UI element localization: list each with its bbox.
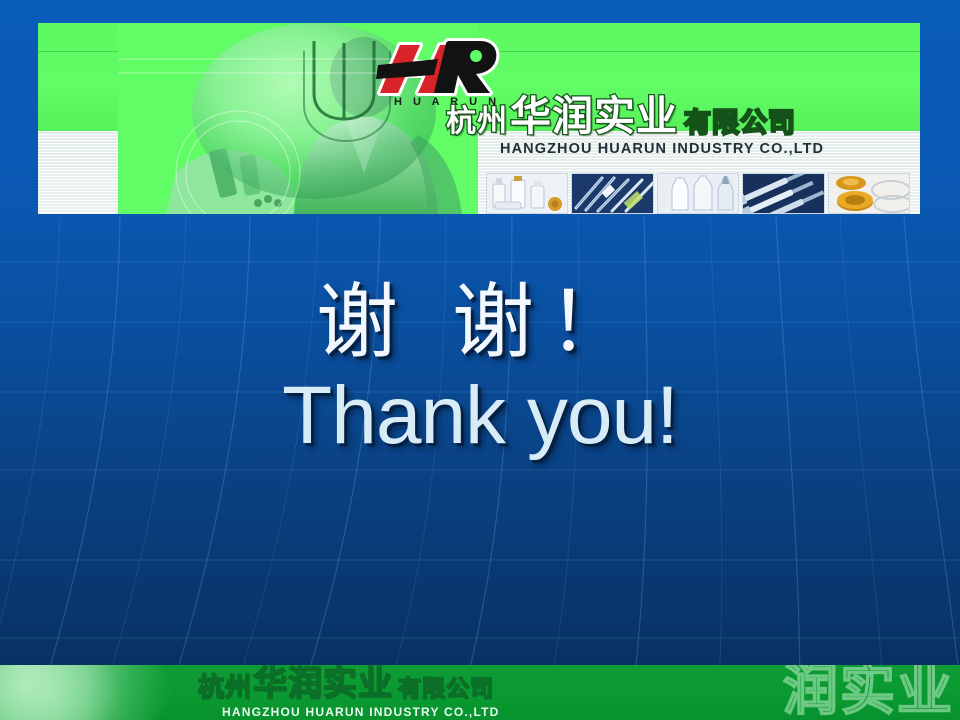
thanks-chinese-text: 谢 谢！	[0, 280, 960, 366]
product-photo-amber-jars-and-dishes	[828, 173, 910, 214]
company-name-cn-main: 华润实业	[510, 96, 678, 137]
product-photo-pump-spray-bottles	[486, 173, 568, 214]
presentation-slide: H U A R U N 杭州 华润实业 有限公司 HANGZHOU HUARUN…	[0, 0, 960, 720]
thank-you-block: 谢 谢！ Thank you!	[0, 280, 960, 462]
footer-watermark-text: 润实业	[783, 665, 954, 718]
header-banner: H U A R U N 杭州 华润实业 有限公司 HANGZHOU HUARUN…	[38, 23, 920, 214]
footer-company-name-cn: 杭州 华润实业 有限公司	[198, 667, 494, 701]
footer-company-name-en: HANGZHOU HUARUN INDUSTRY CO.,LTD	[222, 705, 500, 719]
product-photo-strip	[486, 173, 910, 214]
company-name-cn-prefix: 杭州	[446, 107, 508, 137]
footer-company-name-cn-main: 华润实业	[253, 667, 393, 701]
footer-bar: 润实业 杭州 华润实业 有限公司 HANGZHOU HUARUN INDUSTR…	[0, 665, 960, 720]
company-name-cn-suffix: 有限公司	[684, 110, 796, 137]
product-photo-pipettes-and-tubes	[571, 173, 653, 214]
footer-sphere-highlight	[0, 665, 130, 720]
banner-company-name-cn: 杭州 华润实业 有限公司	[446, 89, 920, 137]
thanks-english-text: Thank you!	[0, 370, 960, 462]
product-photo-syringes	[742, 173, 824, 214]
footer-company-name-cn-prefix: 杭州	[198, 675, 252, 701]
product-photo-dropper-bottles	[657, 173, 739, 214]
footer-company-name-cn-suffix: 有限公司	[398, 678, 494, 701]
banner-company-name-en: HANGZHOU HUARUN INDUSTRY CO.,LTD	[500, 141, 824, 157]
